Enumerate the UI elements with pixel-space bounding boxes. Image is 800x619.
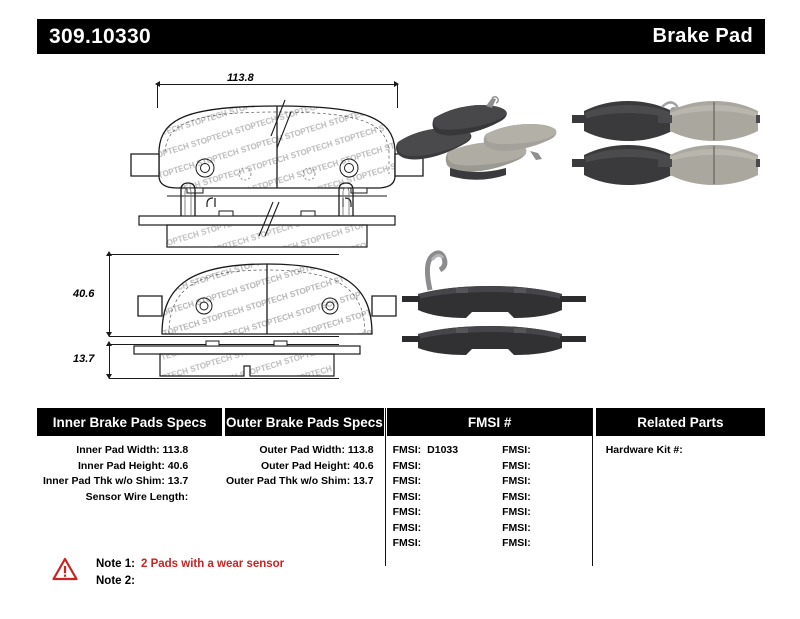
fmsi-value bbox=[421, 475, 427, 487]
header-fmsi: FMSI # bbox=[387, 408, 593, 436]
fmsi-value bbox=[531, 522, 537, 534]
header-inner-specs: Inner Brake Pads Specs bbox=[37, 408, 222, 436]
fmsi-row: FMSI: bbox=[502, 443, 537, 459]
fmsi-label: FMSI: bbox=[502, 506, 531, 518]
fmsi-row: FMSI: bbox=[393, 505, 459, 521]
fmsi-row: FMSI: bbox=[502, 474, 537, 490]
inner-spec-row: Inner Pad Width: 113.8 bbox=[37, 443, 222, 459]
outer-spec-row: Outer Pad Width: 113.8 bbox=[225, 443, 383, 459]
note-2-label: Note 2: bbox=[96, 575, 135, 587]
note-lines: Note 1:2 Pads with a wear sensor Note 2: bbox=[96, 556, 284, 590]
specs-table: Inner Brake Pads Specs Outer Brake Pads … bbox=[37, 408, 765, 566]
fmsi-label: FMSI: bbox=[393, 475, 422, 487]
fmsi-row: FMSI:D1033 bbox=[393, 443, 459, 459]
warning-triangle-icon bbox=[52, 557, 78, 581]
fmsi-row: FMSI: bbox=[502, 521, 537, 537]
pad-photo-angled-group bbox=[390, 90, 570, 190]
fmsi-value bbox=[531, 475, 537, 487]
fmsi-label: FMSI: bbox=[393, 444, 422, 456]
fmsi-row: FMSI: bbox=[502, 490, 537, 506]
part-number: 309.10330 bbox=[49, 25, 151, 49]
fmsi-value bbox=[531, 491, 537, 503]
specs-table-header-row: Inner Brake Pads Specs Outer Brake Pads … bbox=[37, 408, 765, 436]
column-divider-fmsi bbox=[385, 408, 386, 566]
cell-fmsi: FMSI:D1033 FMSI: FMSI: FMSI: FMSI: FMSI:… bbox=[387, 436, 593, 566]
fmsi-row: FMSI: bbox=[393, 521, 459, 537]
fmsi-column-right: FMSI: FMSI: FMSI: FMSI: FMSI: FMSI: FMSI… bbox=[458, 443, 537, 552]
column-divider-related bbox=[592, 408, 593, 566]
cell-inner-specs: Inner Pad Width: 113.8 Inner Pad Height:… bbox=[37, 436, 222, 566]
product-category: Brake Pad bbox=[652, 25, 753, 48]
fmsi-row: FMSI: bbox=[502, 505, 537, 521]
header-outer-specs: Outer Brake Pads Specs bbox=[225, 408, 383, 436]
cell-related-parts: Hardware Kit #: bbox=[596, 436, 765, 566]
note-1-value: 2 Pads with a wear sensor bbox=[135, 558, 284, 570]
note-1-label: Note 1: bbox=[96, 558, 135, 570]
inner-spec-row: Sensor Wire Length: bbox=[37, 490, 222, 506]
height-dimension-label: 40.6 bbox=[73, 288, 94, 300]
spec-sheet: 309.10330 Brake Pad 113.8 STOPTECH bbox=[0, 0, 800, 619]
fmsi-row: FMSI: bbox=[393, 490, 459, 506]
fmsi-label: FMSI: bbox=[393, 537, 422, 549]
fmsi-row: FMSI: bbox=[393, 459, 459, 475]
thickness-dimension-label: 13.7 bbox=[73, 353, 94, 365]
fmsi-label: FMSI: bbox=[393, 522, 422, 534]
fmsi-label: FMSI: bbox=[393, 506, 422, 518]
fmsi-row: FMSI: bbox=[393, 474, 459, 490]
fmsi-row: FMSI: bbox=[393, 536, 459, 552]
drawing-area: 113.8 STOPTECH bbox=[37, 62, 765, 392]
fmsi-label: FMSI: bbox=[502, 475, 531, 487]
fmsi-value: D1033 bbox=[421, 444, 458, 456]
fmsi-label: FMSI: bbox=[502, 460, 531, 472]
fmsi-row: FMSI: bbox=[502, 459, 537, 475]
pad-edge-view-drawing: STOPTECH bbox=[132, 336, 362, 382]
fmsi-label: FMSI: bbox=[393, 491, 422, 503]
pad-side-profile-drawing: STOPTECH bbox=[137, 180, 397, 255]
fmsi-value bbox=[421, 460, 427, 472]
note-1: Note 1:2 Pads with a wear sensor bbox=[96, 556, 284, 573]
pad-bottom-view-drawing: STOPTECH bbox=[132, 250, 402, 340]
header-related-parts: Related Parts bbox=[596, 408, 765, 436]
thickness-dim-line bbox=[109, 344, 110, 378]
fmsi-label: FMSI: bbox=[502, 491, 531, 503]
fmsi-value bbox=[531, 444, 537, 456]
fmsi-column-left: FMSI:D1033 FMSI: FMSI: FMSI: FMSI: FMSI:… bbox=[387, 443, 459, 552]
note-2-value bbox=[135, 575, 141, 587]
fmsi-value bbox=[421, 491, 427, 503]
width-dimension-label: 113.8 bbox=[227, 72, 254, 84]
fmsi-label: FMSI: bbox=[502, 444, 531, 456]
fmsi-value bbox=[421, 522, 427, 534]
inner-spec-row: Inner Pad Thk w/o Shim: 13.7 bbox=[37, 474, 222, 490]
related-part-row: Hardware Kit #: bbox=[596, 443, 765, 459]
fmsi-label: FMSI: bbox=[502, 522, 531, 534]
width-dim-line bbox=[157, 84, 397, 85]
title-bar: 309.10330 Brake Pad bbox=[37, 19, 765, 54]
pad-photo-grid-2x2 bbox=[570, 95, 760, 187]
fmsi-value bbox=[531, 537, 537, 549]
fmsi-row: FMSI: bbox=[502, 536, 537, 552]
specs-table-body-row: Inner Pad Width: 113.8 Inner Pad Height:… bbox=[37, 436, 765, 566]
cell-outer-specs: Outer Pad Width: 113.8 Outer Pad Height:… bbox=[225, 436, 383, 566]
inner-spec-row: Inner Pad Height: 40.6 bbox=[37, 459, 222, 475]
fmsi-value bbox=[421, 506, 427, 518]
fmsi-value bbox=[531, 506, 537, 518]
note-2: Note 2: bbox=[96, 573, 284, 590]
fmsi-value bbox=[421, 537, 427, 549]
height-dim-line bbox=[109, 254, 110, 336]
notes-section: Note 1:2 Pads with a wear sensor Note 2: bbox=[52, 556, 284, 590]
outer-spec-row: Outer Pad Thk w/o Shim: 13.7 bbox=[225, 474, 383, 490]
fmsi-label: FMSI: bbox=[502, 537, 531, 549]
fmsi-label: FMSI: bbox=[393, 460, 422, 472]
fmsi-value bbox=[531, 460, 537, 472]
outer-spec-row: Outer Pad Height: 40.6 bbox=[225, 459, 383, 475]
pad-photo-edge-pair bbox=[400, 250, 590, 360]
